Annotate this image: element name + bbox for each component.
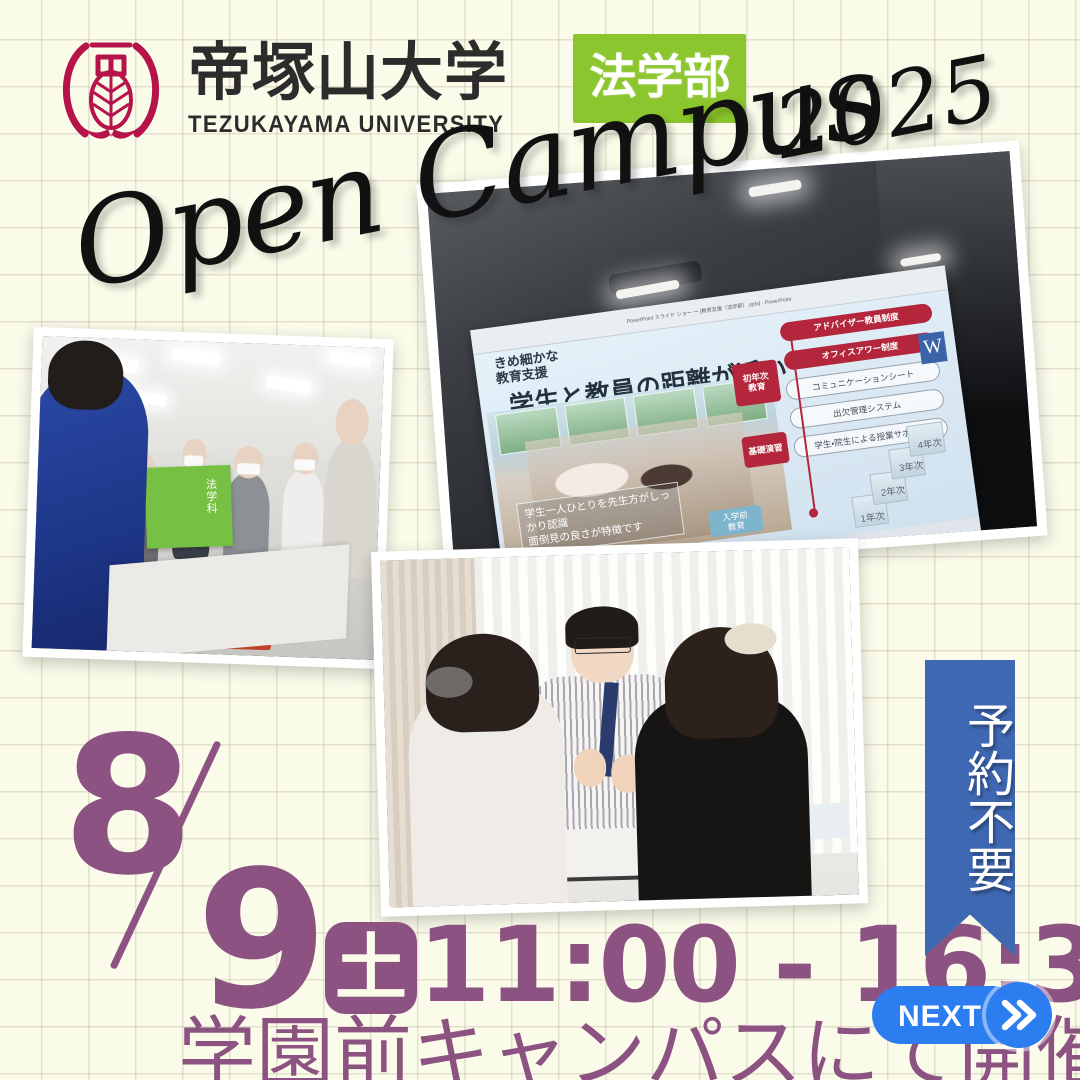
department-flag-text: 法学科 — [203, 478, 220, 515]
university-crest-icon — [52, 30, 170, 148]
no-reservation-text: 予約不要 — [925, 682, 1015, 912]
open-campus-poster: 帝塚山大学 TEZUKAYAMA UNIVERSITY 法学部 Open Cam… — [0, 0, 1080, 1080]
next-button-label: NEXT — [898, 1000, 982, 1034]
slide-group-first-year: 初年次教育 — [731, 359, 782, 406]
next-button[interactable]: NEXT — [872, 982, 1052, 1048]
wikipedia-mark-icon: W — [918, 331, 948, 364]
event-day: 9 — [196, 846, 328, 1036]
slide-group-basic-seminar: 基礎演習 — [741, 432, 790, 468]
weekday-badge: 土 — [325, 922, 417, 1014]
double-chevron-right-icon[interactable] — [986, 982, 1052, 1048]
university-name-jp: 帝塚山大学 — [188, 41, 539, 104]
photo-classroom: 法学科 — [22, 327, 393, 669]
no-reservation-ribbon: 予約不要 — [925, 660, 1015, 956]
department-flag: 法学科 — [145, 465, 233, 549]
